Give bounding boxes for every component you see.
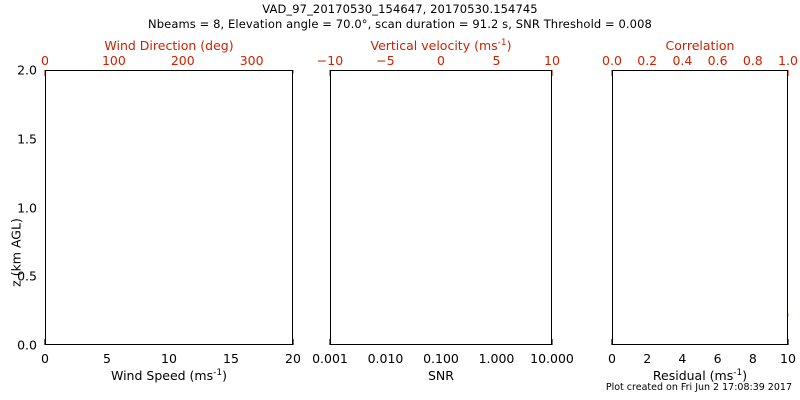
residual-axis-title: Residual (ms-1) [612, 368, 788, 383]
plot-creation-timestamp: Plot created on Fri Jun 2 17:08:39 2017 [0, 382, 800, 393]
axis-tick-label: 0.2 [637, 53, 657, 68]
axis-tick-label: 0.0 [602, 53, 622, 68]
y-axis-title: z (km AGL) [9, 193, 24, 313]
vertical-velocity-axis-title: Vertical velocity (ms-1) [330, 38, 552, 53]
axis-tick-label: 300 [240, 53, 264, 68]
axis-tick-label: 0.8 [743, 53, 763, 68]
correlation-axis-ticks: 0.00.20.40.60.81.0 [612, 53, 788, 67]
y-axis-tick-label: 1.5 [17, 131, 37, 146]
axis-tick-label: 20 [285, 351, 301, 366]
axis-tick-label: 2 [643, 351, 651, 366]
y-axis-tick-label: 0.0 [17, 338, 37, 353]
axis-tick-label: 0 [41, 351, 49, 366]
axis-tick-label: 10 [161, 351, 177, 366]
snr-axis-title: SNR [330, 368, 552, 383]
axis-tick-label: 10.000 [530, 351, 574, 366]
axis-tick-label: 5 [103, 351, 111, 366]
wind-panel-frame [45, 70, 293, 345]
vad-profile-figure: VAD_97_20170530_154647, 20170530.154745 … [0, 0, 800, 400]
wind-direction-axis-ticks: 0100200300 [45, 53, 293, 67]
page-title: VAD_97_20170530_154647, 20170530.154745 [0, 2, 800, 17]
axis-tick-label: 0 [608, 351, 616, 366]
wind-speed-axis-ticks: 05101520 [45, 351, 293, 365]
axis-tick-label: 8 [749, 351, 757, 366]
residual-panel[interactable] [612, 70, 788, 345]
vertical-velocity-axis-ticks: −10−50510 [330, 53, 552, 67]
wind-panel[interactable] [45, 70, 293, 345]
residual-axis-ticks: 0246810 [612, 351, 788, 365]
wind-direction-axis-title: Wind Direction (deg) [45, 38, 293, 53]
snr-panel[interactable] [330, 70, 552, 345]
correlation-axis-title: Correlation [612, 38, 788, 53]
axis-tick-label: 15 [223, 351, 239, 366]
y-axis: 0.00.51.01.52.0 z (km AGL) [0, 70, 42, 345]
axis-tick-label: 1.000 [479, 351, 515, 366]
axis-tick-label: 0.4 [672, 53, 692, 68]
axis-tick-label: 4 [678, 351, 686, 366]
axis-tick-label: 6 [714, 351, 722, 366]
y-axis-tick-label: 2.0 [17, 63, 37, 78]
axis-tick-label: 0.010 [368, 351, 404, 366]
figure-title-block: VAD_97_20170530_154647, 20170530.154745 … [0, 2, 800, 32]
residual-panel-frame [612, 70, 788, 345]
axis-tick-label: 0.100 [423, 351, 459, 366]
snr-axis-ticks: 0.0010.0100.1001.00010.000 [330, 351, 552, 365]
axis-tick-label: 100 [102, 53, 126, 68]
snr-panel-frame [330, 70, 552, 345]
axis-tick-label: 10 [780, 351, 796, 366]
axis-tick-label: 0 [437, 53, 445, 68]
axis-tick-label: 5 [493, 53, 501, 68]
axis-tick-label: 200 [171, 53, 195, 68]
axis-tick-label: −10 [317, 53, 343, 68]
wind-speed-axis-title: Wind Speed (ms-1) [45, 368, 293, 383]
axis-tick-label: 0 [41, 53, 49, 68]
figure-subtitle: Nbeams = 8, Elevation angle = 70.0°, sca… [0, 17, 800, 32]
axis-tick-label: 1.0 [778, 53, 798, 68]
axis-tick-label: 0.6 [708, 53, 728, 68]
axis-tick-label: 10 [544, 53, 560, 68]
axis-tick-label: 0.001 [312, 351, 348, 366]
axis-tick-label: −5 [376, 53, 394, 68]
